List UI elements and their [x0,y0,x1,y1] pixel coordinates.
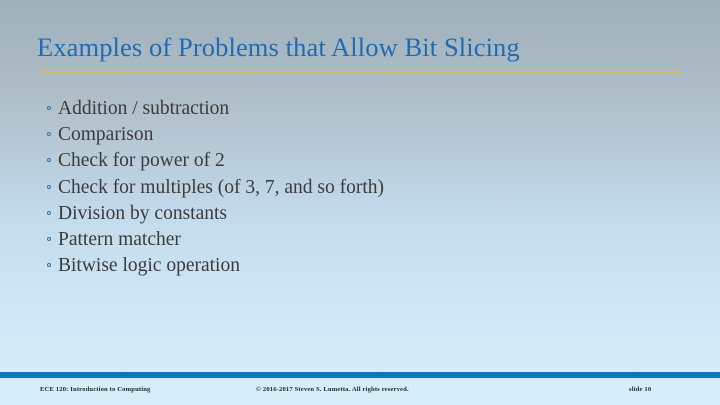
list-item-label: Bitwise logic operation [58,255,240,276]
list-item: Comparison [44,122,684,148]
footer-copyright-label: © 2016-2017 Steven S. Lumetta. All right… [256,386,409,393]
hollow-circle-bullet-icon [47,185,51,189]
list-item: Division by constants [44,201,684,227]
title-underline-rule [37,71,683,74]
list-item-label: Addition / subtraction [58,98,229,119]
list-item: Addition / subtraction [44,96,684,122]
slide-canvas: Examples of Problems that Allow Bit Slic… [0,0,720,405]
list-item: Bitwise logic operation [44,253,684,279]
footer-slide-number: slide 10 [629,386,651,393]
title-block: Examples of Problems that Allow Bit Slic… [37,32,683,62]
list-item: Check for power of 2 [44,148,684,174]
list-item-label: Pattern matcher [58,229,181,250]
list-item-label: Check for multiples (of 3, 7, and so for… [58,177,384,198]
footer: ECE 120: Introduction to Computing © 201… [0,383,720,399]
hollow-circle-bullet-icon [47,263,51,267]
hollow-circle-bullet-icon [47,237,51,241]
list-item-label: Division by constants [58,203,227,224]
hollow-circle-bullet-icon [47,106,51,110]
list-item-label: Comparison [58,124,153,145]
hollow-circle-bullet-icon [47,158,51,162]
hollow-circle-bullet-icon [47,211,51,215]
list-item: Pattern matcher [44,227,684,253]
footer-course-label: ECE 120: Introduction to Computing [40,386,151,393]
list-item-label: Check for power of 2 [58,150,225,171]
page-title: Examples of Problems that Allow Bit Slic… [37,32,683,62]
hollow-circle-bullet-icon [47,132,51,136]
footer-divider-bar [0,372,720,378]
list-item: Check for multiples (of 3, 7, and so for… [44,175,684,201]
bullet-list: Addition / subtraction Comparison Check … [44,96,684,279]
